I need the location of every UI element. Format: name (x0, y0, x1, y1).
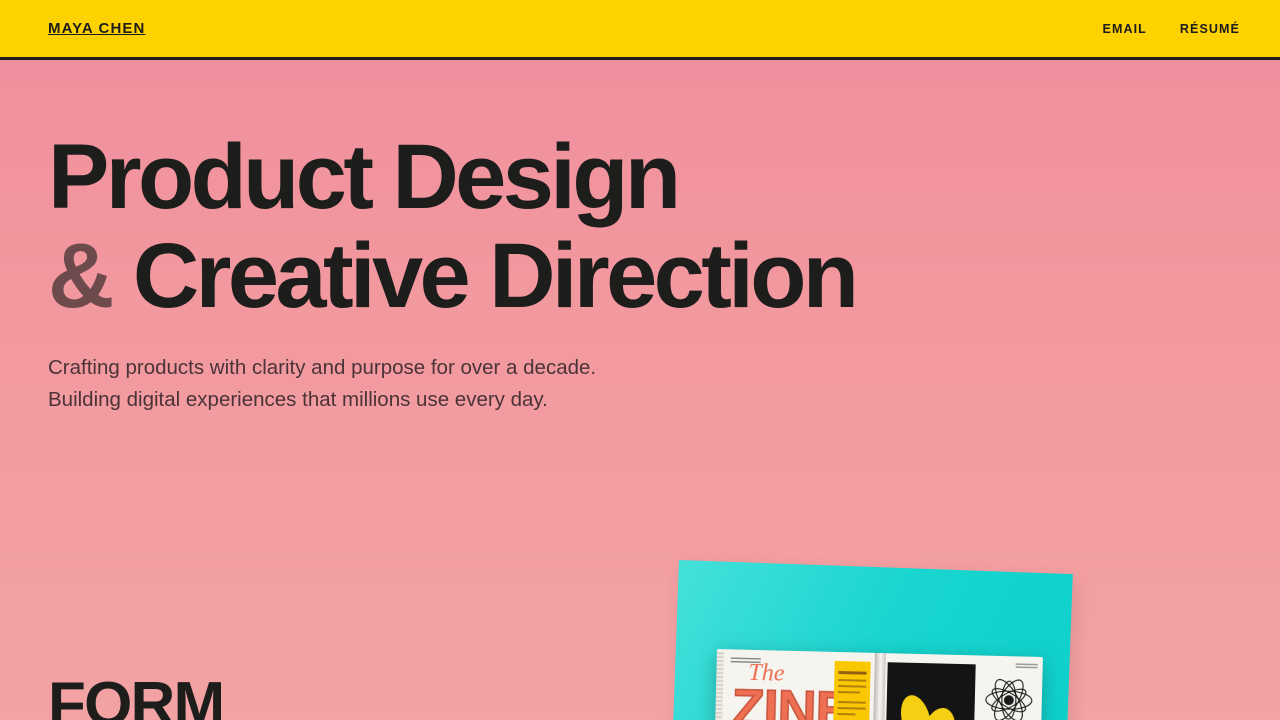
magazine-black-panel (884, 662, 976, 720)
main-nav: EMAIL RÉSUMÉ (1103, 22, 1240, 36)
headline-ampersand: & (48, 225, 111, 327)
site-header: MAYA CHEN EMAIL RÉSUMÉ (0, 0, 1280, 60)
page-title: Product Design & Creative Direction (48, 128, 855, 326)
headline-line-1: Product Design (48, 126, 677, 228)
section-heading: FORM (48, 672, 223, 720)
brand-logo[interactable]: MAYA CHEN (48, 20, 145, 37)
magazine-right-page (876, 653, 1043, 720)
nav-link-email[interactable]: EMAIL (1103, 22, 1147, 36)
nav-link-resume[interactable]: RÉSUMÉ (1180, 22, 1240, 36)
magazine-yellow-column (831, 661, 870, 720)
magazine-photo: The ZINE (713, 649, 1043, 720)
hero-subtitle: Crafting products with clarity and purpo… (48, 352, 596, 416)
feature-media: The ZINE (679, 560, 1073, 720)
hero-subtitle-line-2: Building digital experiences that millio… (48, 384, 596, 416)
pear-shape-icon (896, 692, 933, 720)
magazine-folio-lines (1016, 663, 1038, 670)
headline-line-2: Creative Direction (133, 225, 856, 327)
atom-diagram-icon (982, 674, 1035, 720)
hero-subtitle-line-1: Crafting products with clarity and purpo… (48, 352, 596, 384)
magazine-left-page: The ZINE (713, 649, 880, 720)
